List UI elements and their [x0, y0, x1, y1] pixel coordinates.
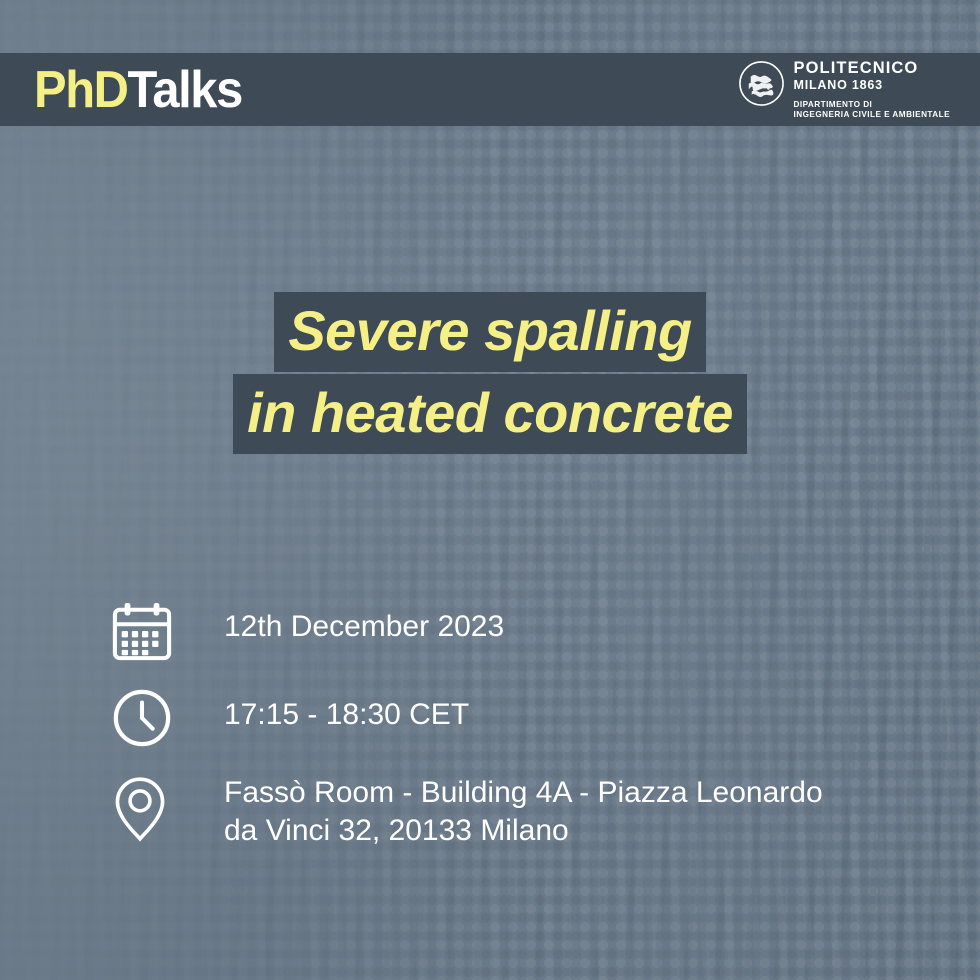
- detail-row-date: 12th December 2023: [112, 598, 912, 662]
- politecnico-department: DIPARTIMENTO DI INGEGNERIA CIVILE E AMBI…: [794, 100, 950, 122]
- politecnico-logo: POLITECNICO MILANO 1863 DIPARTIMENTO DI …: [738, 58, 950, 121]
- politecnico-year: MILANO 1863: [794, 78, 950, 92]
- title-line-1: Severe spalling: [274, 292, 705, 372]
- detail-row-venue: Fassò Room - Building 4A - Piazza Leonar…: [112, 770, 912, 851]
- location-pin-icon: [112, 770, 178, 844]
- politecnico-name: POLITECNICO: [794, 60, 950, 77]
- politecnico-logo-text: POLITECNICO MILANO 1863 DIPARTIMENTO DI …: [794, 58, 950, 121]
- header-bar: PhDTalks: [0, 53, 980, 126]
- detail-value-venue: Fassò Room - Building 4A - Piazza Leonar…: [178, 770, 823, 851]
- event-details: 12th December 2023 17:15 - 18:30 CET Fas…: [112, 598, 912, 873]
- poster-canvas: PhDTalks: [0, 0, 980, 980]
- brand-phd-text: PhD: [34, 61, 128, 119]
- brand-talks-text: Talks: [128, 61, 242, 119]
- clock-icon: [112, 684, 178, 748]
- detail-value-time: 17:15 - 18:30 CET: [178, 684, 469, 734]
- talk-title: Severe spalling in heated concrete: [0, 292, 980, 454]
- detail-value-date: 12th December 2023: [178, 598, 504, 646]
- title-line-2: in heated concrete: [233, 374, 747, 454]
- detail-row-time: 17:15 - 18:30 CET: [112, 684, 912, 748]
- politecnico-seal-icon: [738, 60, 785, 107]
- phdtalks-logo: PhDTalks: [34, 64, 242, 116]
- calendar-icon: [112, 598, 178, 662]
